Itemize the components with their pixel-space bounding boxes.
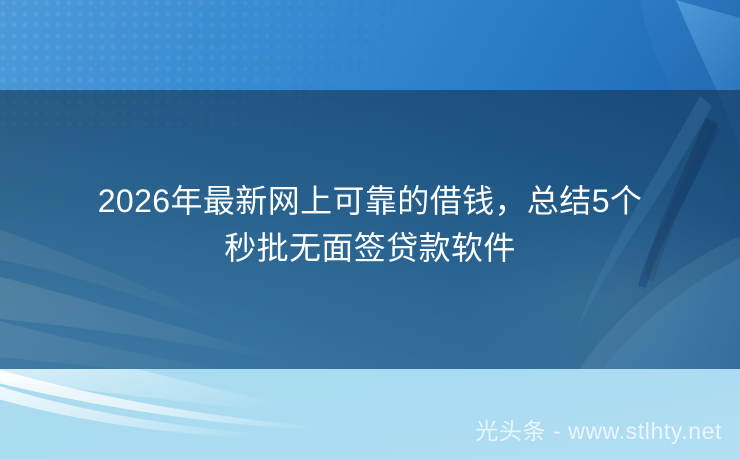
banner-title-line-2: 秒批无面签贷款软件 <box>14 225 726 272</box>
promo-banner: 2026年最新网上可靠的借钱，总结5个 秒批无面签贷款软件 <box>0 0 740 459</box>
bottom-strip <box>0 369 740 459</box>
bottom-wave-layer <box>0 369 740 459</box>
watermark: 光头条 - www.stlhty.net <box>475 417 722 445</box>
banner-title-line-1: 2026年最新网上可靠的借钱，总结5个 <box>14 178 726 225</box>
blue-ribbon-shape <box>598 258 740 377</box>
banner-title: 2026年最新网上可靠的借钱，总结5个 秒批无面签贷款软件 <box>0 178 740 272</box>
